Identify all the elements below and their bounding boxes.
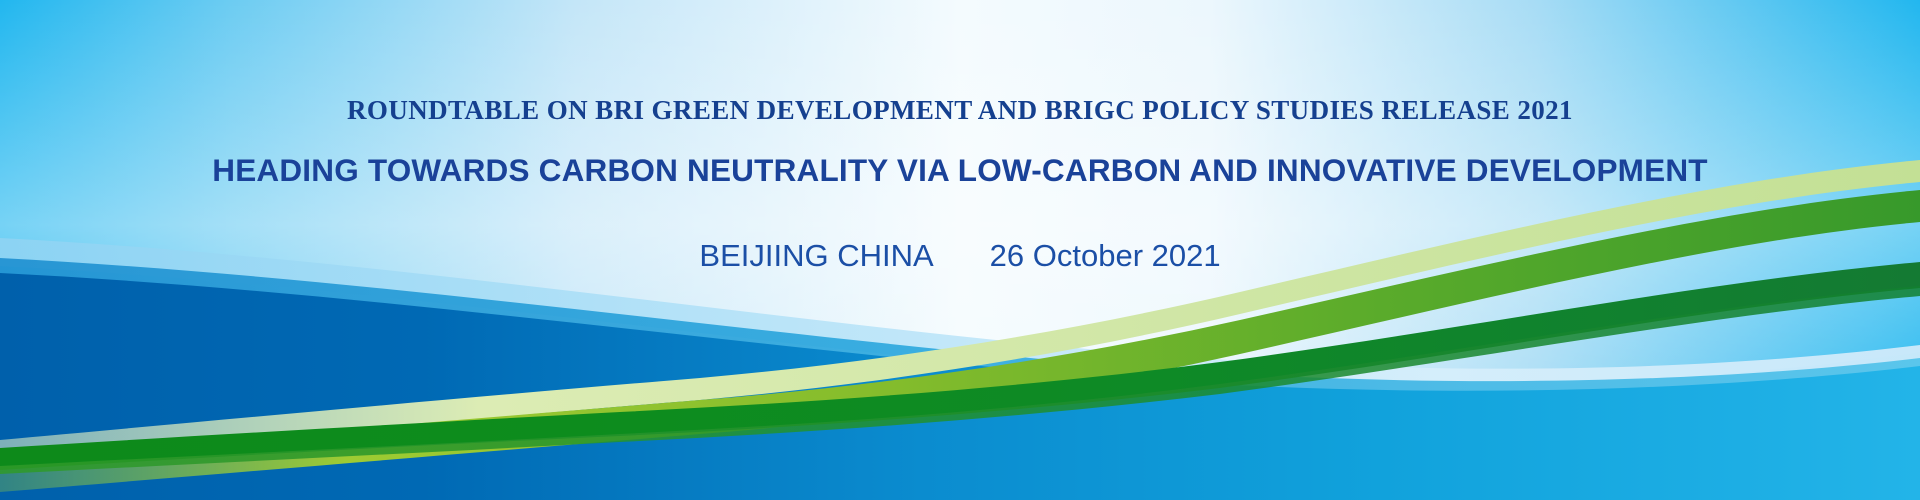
event-banner: ROUNDTABLE ON BRI GREEN DEVELOPMENT AND … (0, 0, 1920, 500)
decorative-background (0, 0, 1920, 500)
